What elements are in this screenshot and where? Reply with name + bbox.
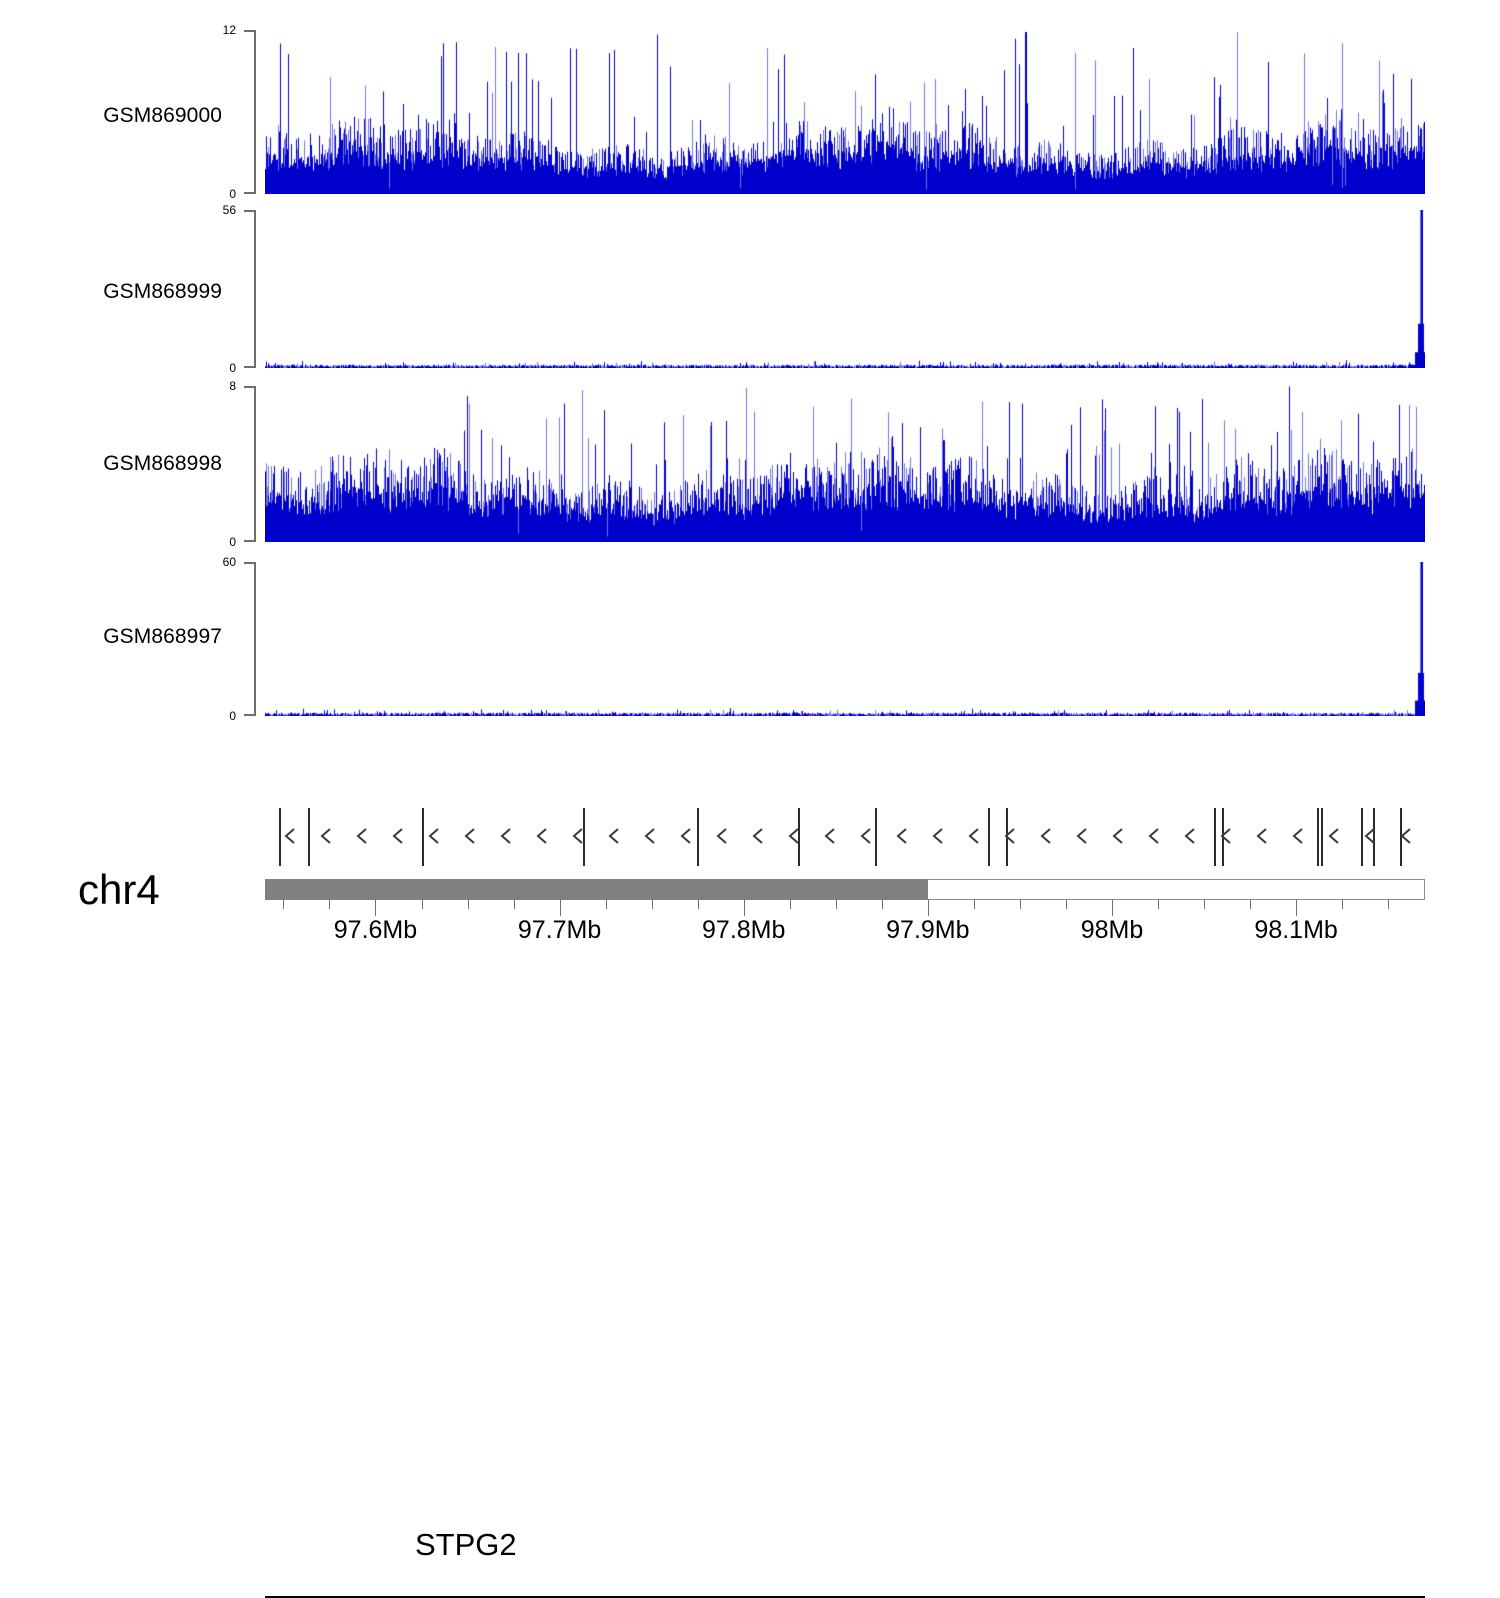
strand-arrow-icon [715,827,729,845]
track-label: GSM868997 [0,625,222,649]
y-axis-tick [244,540,256,542]
strand-arrow-icon [751,827,765,845]
strand-arrow-icon [1075,827,1089,845]
strand-arrow-icon [1147,827,1161,845]
chromosome-label: chr4 [78,866,238,914]
strand-arrow-icon [823,827,837,845]
gene-exon[interactable] [1214,808,1216,866]
ruler-minor-tick [882,900,883,909]
strand-arrow-icon [607,827,621,845]
strand-arrow-icon [931,827,945,845]
y-axis-min-label: 0 [229,710,236,722]
ruler-minor-tick [1250,900,1251,909]
y-axis: 120 [240,30,258,194]
ruler-minor-tick [1020,900,1021,909]
y-axis-tick [244,366,256,368]
gene-exon[interactable] [1321,808,1323,866]
strand-arrow-icon [535,827,549,845]
strand-arrow-icon [427,827,441,845]
coverage-plot[interactable] [265,386,1425,542]
ruler-tick-label: 98.1Mb [1254,916,1337,945]
y-axis-max-label: 60 [223,556,236,568]
strand-arrow-icon [463,827,477,845]
strand-arrow-icon [283,827,297,845]
ruler-minor-tick [1388,900,1389,909]
ruler-minor-tick [974,900,975,909]
strand-arrow-icon [391,827,405,845]
strand-arrow-icon [571,827,585,845]
ruler-minor-tick [1066,900,1067,909]
y-axis-tick [244,192,256,194]
coverage-track[interactable]: GSM868997600 [0,562,1500,716]
y-axis: 560 [240,210,258,368]
ruler-minor-tick [283,900,284,909]
strand-arrow-icon [1183,827,1197,845]
coordinate-ruler[interactable] [265,900,1425,916]
gene-exon[interactable] [1317,808,1319,866]
y-axis-min-label: 0 [229,362,236,374]
y-axis-tick [244,30,256,32]
y-axis-tick [244,562,256,564]
ideogram-band-white [928,879,1425,900]
ruler-tick-label: 98Mb [1081,916,1144,945]
ruler-major-tick [928,900,929,916]
ruler-minor-tick [422,900,423,909]
y-axis-tick [244,386,256,388]
gene-exon[interactable] [422,808,424,866]
gene-exon[interactable] [279,808,281,866]
y-axis-max-label: 8 [229,380,236,392]
track-label: GSM869000 [0,104,222,128]
y-axis-spine [254,386,256,542]
strand-arrow-icon [1039,827,1053,845]
gene-exon[interactable] [697,808,699,866]
ruler-minor-tick [1204,900,1205,909]
y-axis-min-label: 0 [229,536,236,548]
ruler-minor-tick [606,900,607,909]
coverage-plot[interactable] [265,562,1425,716]
strand-arrow-icon [967,827,981,845]
y-axis-max-label: 56 [223,204,236,216]
ruler-major-tick [744,900,745,916]
gene-label: STPG2 [415,1527,517,1563]
coverage-plot[interactable] [265,210,1425,368]
track-label: GSM868998 [0,452,222,476]
gene-exon[interactable] [308,808,310,866]
strand-arrow-icon [787,827,801,845]
coverage-plot[interactable] [265,30,1425,194]
coverage-track[interactable]: GSM868999560 [0,210,1500,368]
strand-arrow-icon [355,827,369,845]
strand-arrow-icon [499,827,513,845]
strand-arrow-icon [1291,827,1305,845]
strand-arrow-icon [1255,827,1269,845]
gene-exon[interactable] [875,808,877,866]
strand-arrow-icon [1219,827,1233,845]
track-label: GSM868999 [0,280,222,304]
ruler-major-tick [560,900,561,916]
strand-arrow-icon [319,827,333,845]
strand-arrow-icon [1327,827,1341,845]
ruler-minor-tick [329,900,330,909]
ruler-minor-tick [468,900,469,909]
y-axis-spine [254,30,256,194]
y-axis-min-label: 0 [229,188,236,200]
strand-arrow-icon [1399,827,1413,845]
strand-arrow-icon [895,827,909,845]
y-axis-spine [254,562,256,716]
ruler-minor-tick [1158,900,1159,909]
strand-arrow-icon [1363,827,1377,845]
ruler-major-tick [375,900,376,916]
y-axis-spine [254,210,256,368]
y-axis: 80 [240,386,258,542]
gene-exon[interactable] [988,808,990,866]
strand-arrow-icon [1003,827,1017,845]
gene-annotation-track[interactable]: STPG2 [0,760,1500,870]
y-axis-tick [244,210,256,212]
ruler-tick-label: 97.6Mb [334,916,417,945]
ideogram-band-gray [265,879,928,900]
ruler-minor-tick [790,900,791,909]
y-axis-max-label: 12 [223,24,236,36]
y-axis-tick [244,714,256,716]
y-axis: 600 [240,562,258,716]
strand-arrow-icon [679,827,693,845]
ruler-minor-tick [698,900,699,909]
ruler-minor-tick [652,900,653,909]
ruler-tick-label: 97.7Mb [518,916,601,945]
strand-arrow-icon [859,827,873,845]
strand-arrow-icon [1111,827,1125,845]
coverage-track[interactable]: GSM869000120 [0,30,1500,194]
coverage-track[interactable]: GSM86899880 [0,386,1500,542]
genome-browser: GSM869000120GSM868999560GSM86899880GSM86… [0,0,1500,980]
strand-arrow-icon [643,827,657,845]
ruler-minor-tick [1342,900,1343,909]
ruler-tick-label: 97.9Mb [886,916,969,945]
ruler-minor-tick [836,900,837,909]
ruler-major-tick [1112,900,1113,916]
ruler-minor-tick [514,900,515,909]
ruler-major-tick [1296,900,1297,916]
ruler-tick-label: 97.8Mb [702,916,785,945]
ideogram-bar[interactable] [265,879,1425,900]
